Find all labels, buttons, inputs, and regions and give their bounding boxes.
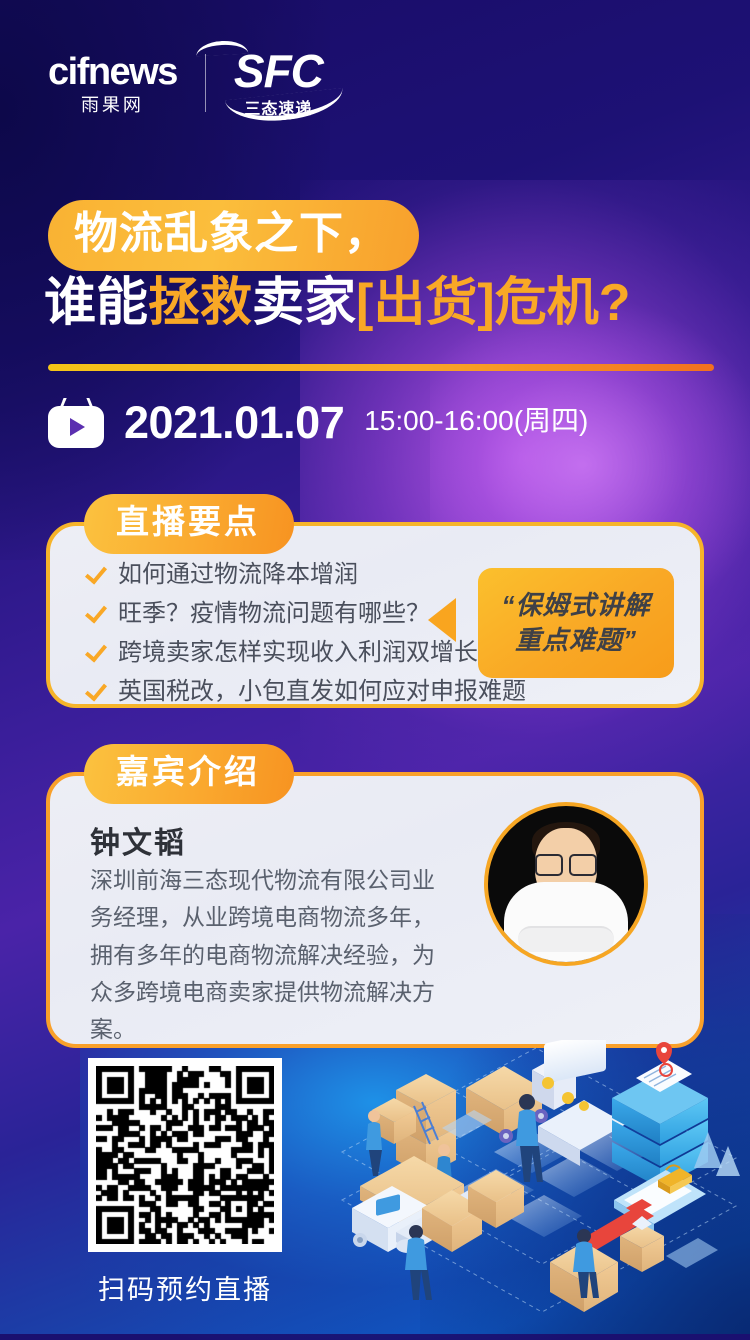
quote-line-1: “保姆式讲解 (501, 590, 650, 621)
guest-label-text: 嘉宾介绍 (116, 753, 260, 790)
title-part-3: 卖家 (252, 274, 356, 332)
schedule-time: 15:00-16:00(周四) (364, 407, 588, 438)
list-item: 旺季？疫情物流问题有哪些？ (86, 599, 526, 629)
live-points-list: 如何通过物流降本增润 旺季？疫情物流问题有哪些？ 跨境卖家怎样实现收入利润双增长… (86, 560, 526, 716)
list-item: 如何通过物流降本增润 (86, 560, 526, 590)
live-point-text: 跨境卖家怎样实现收入利润双增长 (118, 638, 478, 668)
play-triangle-icon (70, 418, 85, 436)
logistics-illustration (336, 1040, 750, 1334)
avatar-glasses-icon (535, 854, 597, 872)
check-icon (85, 561, 107, 584)
left-arrow-icon (428, 598, 456, 642)
sfc-wordmark: SFC (234, 48, 323, 94)
guest-name: 钟文韬 (90, 818, 186, 862)
guest-label-pill: 嘉宾介绍 (84, 744, 294, 804)
live-points-label-pill: 直播要点 (84, 494, 294, 554)
sfc-logo: SFC 三态速递 (234, 48, 323, 118)
avatar-shirt (504, 882, 628, 966)
live-points-label-text: 直播要点 (116, 503, 260, 540)
check-icon (85, 639, 107, 662)
title-part-1: 谁能 (44, 274, 148, 332)
title-part-2: 拯救 (148, 274, 252, 332)
schedule-date: 2021.01.07 (124, 400, 344, 445)
title-divider-rule (48, 364, 714, 371)
qr-code-canvas (96, 1066, 274, 1244)
qr-caption: 扫码预约直播 (88, 1268, 282, 1307)
guest-bio: 深圳前海三态现代物流有限公司业务经理，从业跨境电商物流多年，拥有多年的电商物流解… (90, 862, 446, 1048)
quote-line-2: 重点难题” (515, 625, 637, 656)
qr-code[interactable] (88, 1058, 282, 1252)
check-icon (85, 678, 107, 701)
cifnews-chinese-name: 雨果网 (81, 96, 144, 114)
title-line2: 谁能拯救卖家[出货]危机? (44, 272, 630, 334)
title-line1-text: 物流乱象之下， (74, 209, 389, 258)
logo-divider (205, 54, 206, 112)
schedule-row: 2021.01.07 15:00-16:00(周四) (48, 396, 588, 448)
avatar-arms (518, 926, 614, 952)
cifnews-wordmark: cifnews (48, 53, 177, 91)
live-point-text: 英国税改，小包直发如何应对申报难题 (118, 677, 526, 707)
title-part-5: 危机? (495, 274, 631, 332)
title-part-4: [出货] (356, 274, 495, 332)
tv-play-icon (48, 396, 104, 448)
live-point-text: 如何通过物流降本增润 (118, 560, 358, 590)
live-point-text: 旺季？疫情物流问题有哪些？ (118, 599, 430, 629)
quote-highlight-box: “保姆式讲解 重点难题” (478, 568, 674, 678)
list-item: 英国税改，小包直发如何应对申报难题 (86, 677, 526, 707)
list-item: 跨境卖家怎样实现收入利润双增长 (86, 638, 526, 668)
header-logos: cifnews 雨果网 SFC 三态速递 (48, 48, 323, 118)
cifnews-logo: cifnews 雨果网 (48, 53, 177, 114)
title-line1-pill: 物流乱象之下， (48, 200, 419, 271)
check-icon (85, 600, 107, 623)
guest-avatar (484, 802, 648, 966)
